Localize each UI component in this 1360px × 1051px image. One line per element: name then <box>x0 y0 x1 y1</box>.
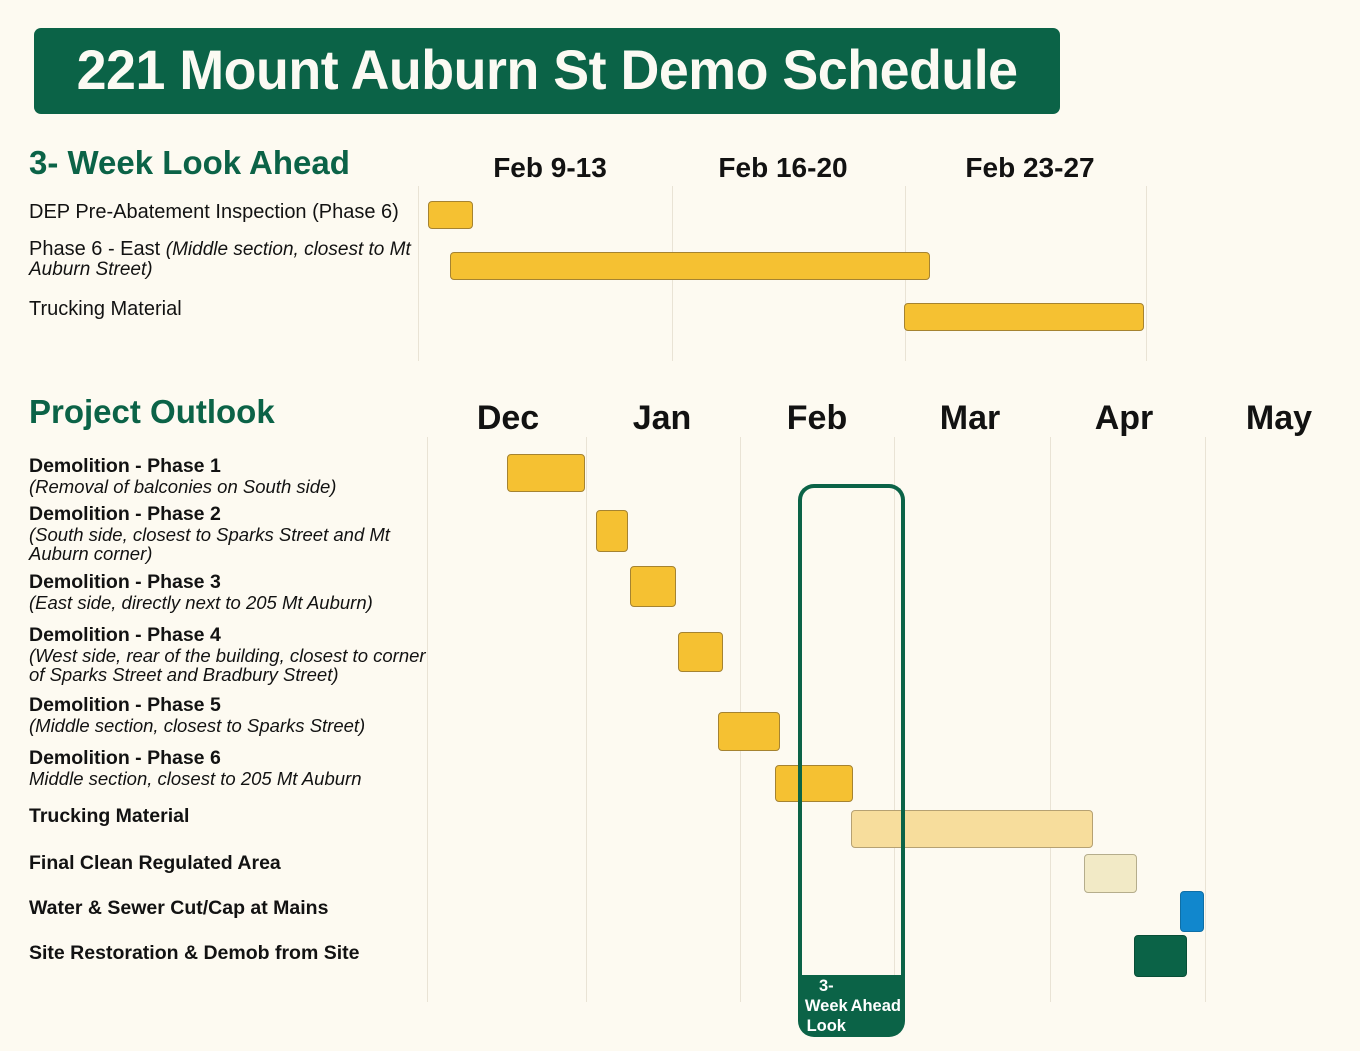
gridline-month-may <box>1205 437 1206 1002</box>
page-title: 221 Mount Auburn St Demo Schedule <box>77 37 1018 102</box>
outlook-row-label-phase-4: Demolition - Phase 4 (West side, rear of… <box>29 625 434 685</box>
outlook-row-title-phase-5: Demolition - Phase 5 <box>29 695 429 716</box>
outlook-row-label-phase-5: Demolition - Phase 5 (Middle section, cl… <box>29 695 429 735</box>
outlook-row-label-site-restoration: Site Restoration & Demob from Site <box>29 943 429 964</box>
outlook-row-label-phase-1: Demolition - Phase 1 (Removal of balconi… <box>29 456 429 496</box>
outlook-row-title-water-sewer: Water & Sewer Cut/Cap at Mains <box>29 898 429 919</box>
outlook-bar-site-restoration <box>1134 935 1187 977</box>
column-header-week-3: Feb 23-27 <box>965 152 1094 184</box>
outlook-row-sub-phase-3: (East side, directly next to 205 Mt Aubu… <box>29 593 429 613</box>
outlook-row-title-site-restoration: Site Restoration & Demob from Site <box>29 943 429 964</box>
outlook-row-title-phase-2: Demolition - Phase 2 <box>29 504 429 525</box>
lookahead-row-label-dep: DEP Pre-Abatement Inspection (Phase 6) <box>29 202 409 223</box>
lookahead-row-title-dep: DEP Pre-Abatement Inspection (Phase 6) <box>29 201 399 223</box>
column-header-month-feb: Feb <box>787 399 847 438</box>
outlook-bar-phase-2 <box>596 510 628 552</box>
gridline-month-apr <box>1050 437 1051 1002</box>
column-header-week-1: Feb 9-13 <box>493 152 607 184</box>
gridline-month-jan <box>586 437 587 1002</box>
outlook-row-title-phase-4: Demolition - Phase 4 <box>29 625 434 646</box>
outlook-row-sub-phase-2: (South side, closest to Sparks Street an… <box>29 525 429 564</box>
outlook-bar-phase-5 <box>718 712 780 751</box>
outlook-row-label-trucking: Trucking Material <box>29 806 429 827</box>
outlook-row-sub-phase-4: (West side, rear of the building, closes… <box>29 646 434 685</box>
lookahead-row-title-trucking: Trucking Material <box>29 298 182 320</box>
outlook-bar-water-sewer <box>1180 891 1204 932</box>
outlook-row-title-final-clean: Final Clean Regulated Area <box>29 853 429 874</box>
outlook-row-label-phase-3: Demolition - Phase 3 (East side, directl… <box>29 572 429 612</box>
outlook-bar-phase-1 <box>507 454 585 492</box>
outlook-row-label-water-sewer: Water & Sewer Cut/Cap at Mains <box>29 898 429 919</box>
three-week-callout-label: 3-Week Look Ahead <box>798 975 905 1037</box>
outlook-bar-phase-3 <box>630 566 676 607</box>
outlook-row-title-phase-1: Demolition - Phase 1 <box>29 456 429 477</box>
outlook-row-label-phase-6: Demolition - Phase 6 Middle section, clo… <box>29 748 429 788</box>
outlook-bar-phase-4 <box>678 632 723 672</box>
title-banner: 221 Mount Auburn St Demo Schedule <box>34 28 1060 114</box>
column-header-month-dec: Dec <box>477 399 539 438</box>
column-header-month-apr: Apr <box>1095 399 1154 438</box>
outlook-heading: Project Outlook <box>29 393 275 431</box>
column-header-month-jan: Jan <box>633 399 692 438</box>
lookahead-bar-trucking <box>904 303 1144 331</box>
outlook-row-title-trucking: Trucking Material <box>29 806 429 827</box>
column-header-week-2: Feb 16-20 <box>718 152 847 184</box>
callout-line-2: Ahead <box>851 996 901 1016</box>
lookahead-bar-phase6east <box>450 252 930 280</box>
outlook-row-sub-phase-1: (Removal of balconies on South side) <box>29 477 429 497</box>
lookahead-row-label-trucking: Trucking Material <box>29 299 409 320</box>
column-header-month-mar: Mar <box>940 399 1000 438</box>
lookahead-row-title-phase6east: Phase 6 - East <box>29 238 166 260</box>
outlook-row-sub-phase-6: Middle section, closest to 205 Mt Auburn <box>29 769 429 789</box>
outlook-row-label-phase-2: Demolition - Phase 2 (South side, closes… <box>29 504 429 564</box>
look-ahead-heading: 3- Week Look Ahead <box>29 144 350 182</box>
three-week-callout-frame <box>798 484 905 975</box>
schedule-page: 221 Mount Auburn St Demo Schedule 3- Wee… <box>0 0 1360 1051</box>
lookahead-row-label-phase6east: Phase 6 - East (Middle section, closest … <box>29 239 419 280</box>
lookahead-bar-dep <box>428 201 473 229</box>
callout-line-1: 3-Week Look <box>802 976 851 1036</box>
outlook-row-title-phase-6: Demolition - Phase 6 <box>29 748 429 769</box>
column-header-month-may: May <box>1246 399 1312 438</box>
gridline-lookahead-3 <box>1146 186 1147 361</box>
outlook-row-label-final-clean: Final Clean Regulated Area <box>29 853 429 874</box>
outlook-bar-final-clean <box>1084 854 1137 893</box>
outlook-row-sub-phase-5: (Middle section, closest to Sparks Stree… <box>29 716 429 736</box>
outlook-row-title-phase-3: Demolition - Phase 3 <box>29 572 429 593</box>
